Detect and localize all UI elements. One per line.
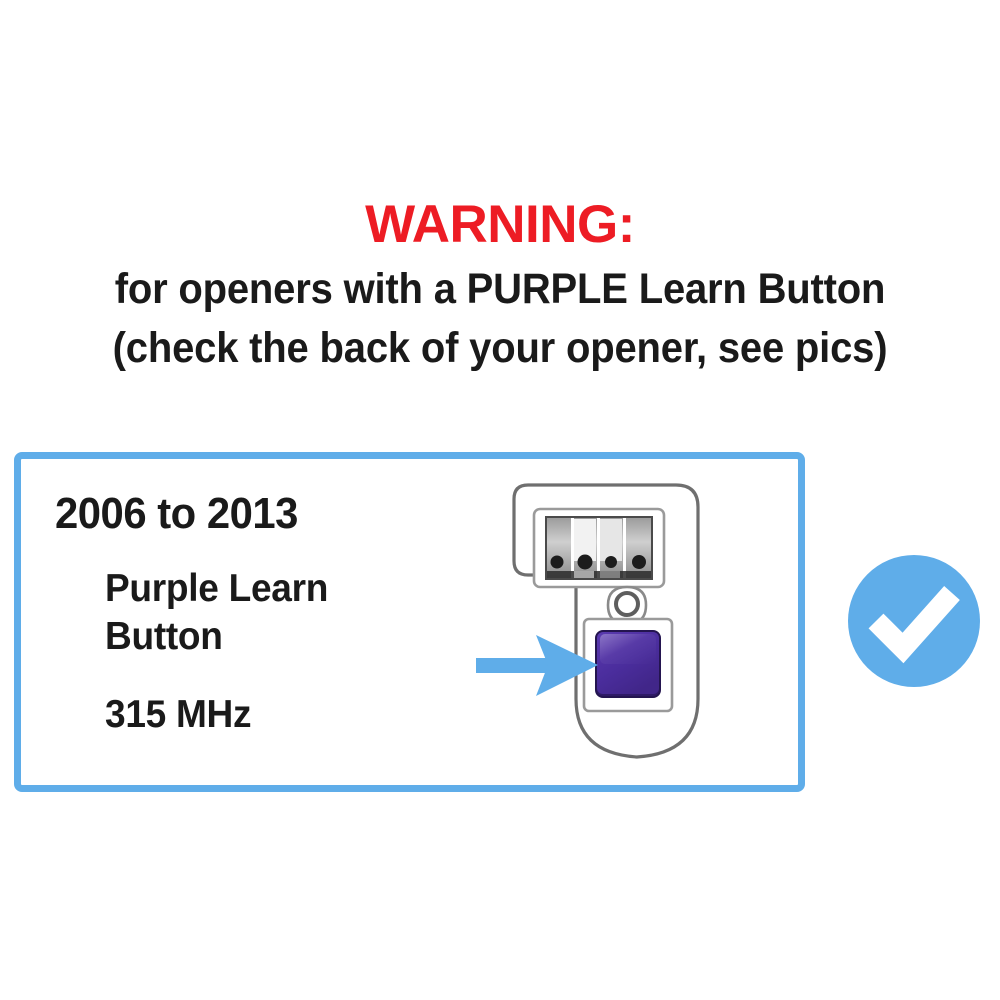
button-type-line-1: Purple Learn — [105, 565, 438, 613]
page-root: WARNING: for openers with a PURPLE Learn… — [0, 0, 1000, 1000]
warning-title: WARNING: — [0, 196, 1000, 254]
button-type-line-2: Button — [105, 613, 438, 661]
terminal-screw — [551, 556, 564, 569]
approved-checkmark-badge — [846, 553, 982, 689]
purple-learn-button[interactable] — [596, 631, 660, 697]
led-indicator-hole — [616, 593, 638, 615]
opener-info-panel: 2006 to 2013 Purple Learn Button 315 MHz — [14, 452, 805, 792]
arrow-shaft — [476, 658, 551, 673]
frequency-label: 315 MHz — [105, 691, 438, 739]
opener-diagram-svg — [476, 467, 776, 777]
terminal-separator — [571, 517, 574, 579]
terminal-cell — [600, 519, 622, 561]
checkmark-svg — [846, 553, 982, 689]
terminal-base-gap — [600, 571, 620, 579]
terminal-separator — [623, 517, 626, 579]
terminal-screw — [578, 555, 593, 570]
opener-diagram — [476, 467, 776, 777]
terminal-separator — [597, 517, 600, 579]
terminal-base-strip — [546, 571, 652, 579]
terminal-block — [546, 517, 652, 579]
terminal-screw — [605, 556, 617, 568]
panel-text-column: 2006 to 2013 Purple Learn Button 315 MHz — [55, 489, 455, 739]
warning-subtitle-line-1: for openers with a PURPLE Learn Button — [35, 260, 965, 319]
warning-subtitle-line-2: (check the back of your opener, see pics… — [35, 319, 965, 378]
terminal-base-gap — [574, 571, 594, 579]
terminal-screw — [632, 555, 646, 569]
warning-header: WARNING: for openers with a PURPLE Learn… — [0, 196, 1000, 378]
button-type-block: Purple Learn Button — [105, 565, 455, 661]
learn-button-gloss — [600, 634, 656, 664]
model-year-range: 2006 to 2013 — [55, 489, 435, 539]
